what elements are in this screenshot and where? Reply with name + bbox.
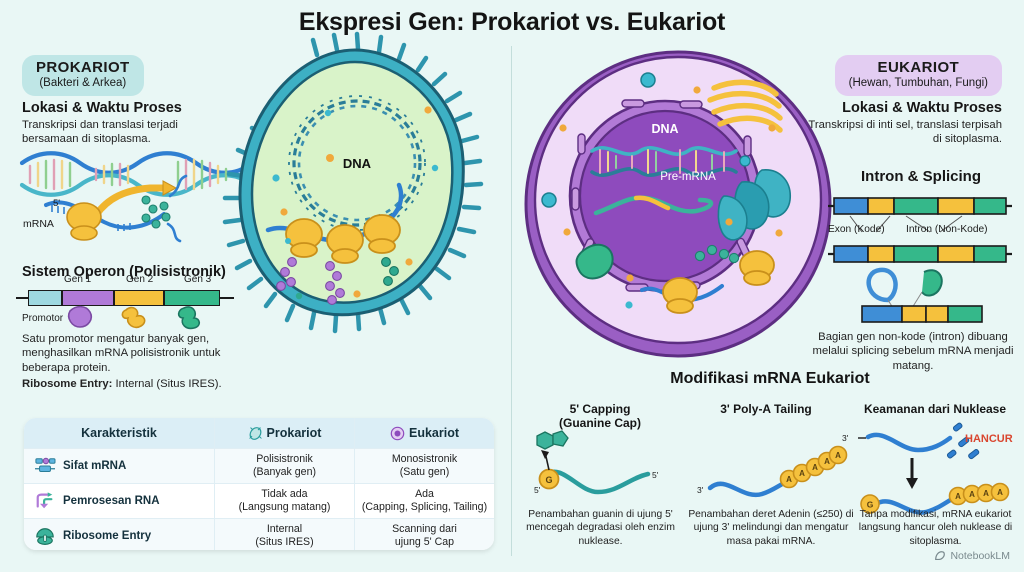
row-name-sifat-mrna: Sifat mRNA <box>63 460 126 472</box>
svg-text:5': 5' <box>534 485 541 495</box>
rna-processing-icon <box>34 491 56 511</box>
panel-divider <box>511 46 512 556</box>
svg-text:A: A <box>997 488 1003 497</box>
comparison-table: Karakteristik Prokariot Eukariot <box>24 418 494 550</box>
mrna-strand-icon <box>34 456 56 476</box>
right-section2-heading: Intron & Splicing <box>828 168 1014 185</box>
mod-col-2-body: Tanpa modifikasi, mRNA eukariot langsung… <box>853 508 1018 548</box>
cell-prokariot-2: Internal(Situs IRES) <box>255 523 313 549</box>
polya-tailing-diagram: A A A A A 3' 3' <box>697 433 849 495</box>
ribosome-entry-label: Ribosome Entry: <box>22 378 112 390</box>
table-header-eukariot: Eukariot <box>409 426 459 440</box>
svg-text:3': 3' <box>697 485 704 495</box>
badge-eukariot: EUKARIOT (Hewan, Tumbuhan, Fungi) <box>835 55 1002 96</box>
badge-eukariot-subtitle: (Hewan, Tumbuhan, Fungi) <box>849 77 988 90</box>
left-ribosome-entry-line: Ribosome Entry: Internal (Situs IRES). <box>22 377 262 391</box>
right-section1-body: Transkripsi di inti sel, translasi terpi… <box>806 118 1002 147</box>
eukaryote-cell-icon <box>390 426 405 441</box>
ribosome-entry-value: Internal (Situs IRES). <box>116 378 222 390</box>
cell-eukariot-0: Monosistronik(Satu gen) <box>392 453 457 479</box>
right-section2-body: Bagian gen non-kode (intron) dibuang mel… <box>808 330 1018 373</box>
row-name-ribosome-entry: Ribosome Entry <box>63 530 151 542</box>
hancur-label: HANCUR <box>965 433 1013 445</box>
mod-col-2-heading: Keamanan dari Nuklease <box>850 402 1020 416</box>
infographic-canvas: Ekspresi Gen: Prokariot vs. Eukariot PRO… <box>0 0 1024 572</box>
bacteria-icon <box>248 426 263 441</box>
mod-col-1-body: Penambahan deret Adenin (≤250) di ujung … <box>686 508 856 548</box>
badge-eukariot-title: EUKARIOT <box>849 60 988 77</box>
svg-text:A: A <box>835 451 841 460</box>
nuclear-dna-helix-icon <box>592 148 736 175</box>
modifikasi-title: Modifikasi mRNA Eukariot <box>520 370 1020 388</box>
mod-col-0-body: Penambahan guanin di ujung 5' mencegah d… <box>518 508 683 548</box>
intron-splicing-diagram <box>828 198 1012 322</box>
table-row: Sifat mRNA Polisistronik(Banyak gen) Mon… <box>24 448 494 483</box>
circular-dna-icon <box>289 96 425 230</box>
prokariot-dna-label: DNA <box>343 156 372 171</box>
notebooklm-watermark: NotebookLM <box>934 550 1010 562</box>
notebooklm-logo-icon <box>934 550 946 562</box>
svg-text:A: A <box>969 490 975 499</box>
eukariot-premrna-label: Pre-mRNA <box>660 171 716 183</box>
mod-col-1-heading: 3' Poly-A Tailing <box>686 402 846 416</box>
protein-shapes-layer <box>0 0 260 340</box>
cell-eukariot-1: Ada(Capping, Splicing, Tailing) <box>362 488 487 514</box>
polyribosome-icon <box>286 215 400 263</box>
svg-text:A: A <box>955 492 961 501</box>
table-header-karakteristik: Karakteristik <box>81 426 157 440</box>
cell-prokariot-0: Polisistronik(Banyak gen) <box>253 453 316 479</box>
capping-diagram: G 5' 5' <box>534 431 659 495</box>
svg-text:A: A <box>983 489 989 498</box>
table-row: Pemrosesan RNA Tidak ada(Langsung matang… <box>24 483 494 518</box>
right-section1-heading: Lokasi & Waktu Proses <box>782 100 1002 116</box>
svg-text:5': 5' <box>652 470 659 480</box>
intron-label: Intron (Non-Kode) <box>906 224 988 235</box>
exon-label: Exon (Kode) <box>828 224 885 235</box>
svg-text:A: A <box>824 457 830 466</box>
table-header-row: Karakteristik Prokariot Eukariot <box>24 418 494 448</box>
table-row: Ribosome Entry Internal(Situs IRES) Scan… <box>24 518 494 550</box>
cell-prokariot-1: Tidak ada(Langsung matang) <box>239 488 331 514</box>
mod-col-0-heading: 5' Capping(Guanine Cap) <box>520 402 680 430</box>
ribosome-icon <box>34 526 56 546</box>
svg-text:G: G <box>545 475 552 485</box>
left-section2-body: Satu promotor mengatur banyak gen, mengh… <box>22 332 234 375</box>
eukariot-dna-label: DNA <box>651 122 678 136</box>
svg-text:A: A <box>786 475 792 484</box>
svg-text:3': 3' <box>842 433 849 443</box>
prokaryotic-cell-illustration: DNA <box>225 34 481 331</box>
svg-text:A: A <box>812 463 818 472</box>
eukaryotic-cell-illustration: DNA Pre-mRNA <box>526 52 830 356</box>
watermark-text: NotebookLM <box>950 550 1010 562</box>
cell-eukariot-2: Scanning dariujung 5' Cap <box>392 523 457 549</box>
row-name-pemrosesan-rna: Pemrosesan RNA <box>63 495 160 507</box>
table-header-prokariot: Prokariot <box>267 426 322 440</box>
svg-text:A: A <box>799 469 805 478</box>
